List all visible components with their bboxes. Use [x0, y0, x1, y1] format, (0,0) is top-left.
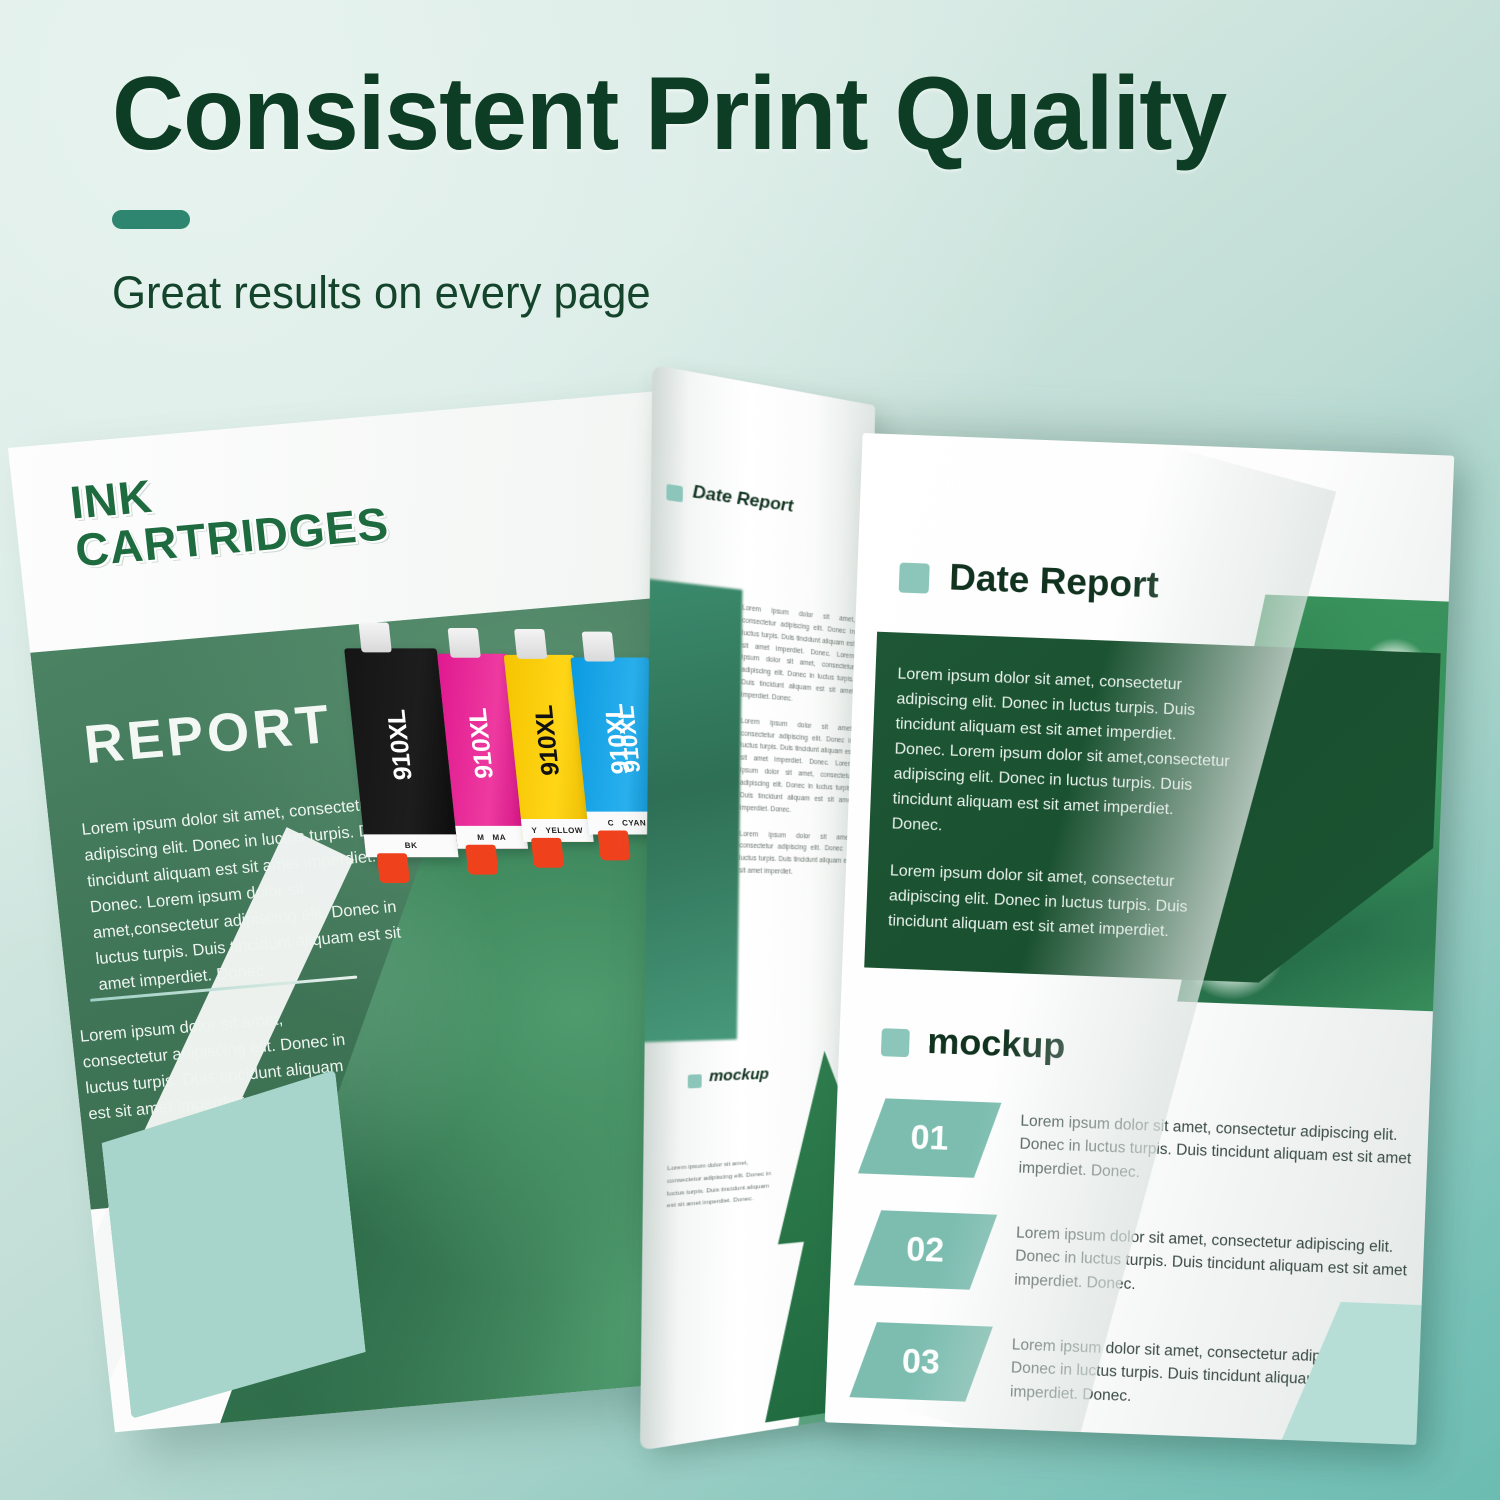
list-item-text: Lorem ipsum dolor sit amet, consectetur …: [1018, 1110, 1420, 1195]
black-cartridge-model: 910XL: [382, 709, 419, 780]
curl-page-body-2: Lorem ipsum dolor sit amet, consectetur …: [740, 715, 854, 819]
page-subtitle: Great results on every page: [112, 267, 1402, 319]
main-page-title: Date Report: [948, 556, 1159, 606]
curl-page-body: Lorem ipsum dolor sit amet, consectetur …: [739, 602, 855, 893]
curl-page-photo: [640, 579, 742, 1043]
right-brochure-main-page: Date Report Lorem ipsum dolor sit amet, …: [825, 433, 1455, 1445]
curl-page-body-1: Lorem ipsum dolor sit amet, consectetur …: [741, 602, 855, 710]
main-page-mockup-title: mockup: [927, 1020, 1067, 1067]
yellow-cartridge-code-long: YELLOW: [545, 826, 583, 835]
yellow-cartridge-model: 910XL: [530, 705, 567, 776]
main-page-title-square-icon: [899, 563, 930, 594]
cartridge-tab-icon: [598, 831, 631, 861]
cartridge-clip-icon: [358, 622, 391, 652]
magenta-cartridge-model: 910XL: [464, 708, 501, 779]
ink-cartridge-group: 910XL BK 910XL M MA 910XL Y YELLOW: [337, 544, 688, 886]
curl-page-mockup-body: Lorem ipsum dolor sit amet, consectetur …: [667, 1155, 779, 1213]
list-item-number-badge: 01: [858, 1098, 1002, 1177]
header: Consistent Print Quality Great results o…: [112, 62, 1442, 319]
cartridge-clip-icon: [514, 629, 547, 659]
list-item-number-badge: 03: [849, 1322, 993, 1401]
list-item-number: 03: [901, 1342, 940, 1382]
cartridge-clip-icon: [582, 632, 615, 662]
list-item-text: Lorem ipsum dolor sit amet, consectetur …: [1014, 1221, 1416, 1306]
curl-page-title-square-icon: [666, 484, 683, 502]
right-brochure: Date Report Lorem ipsum dolor sit amet, …: [616, 389, 1455, 1459]
curl-page-mockup-square-icon: [688, 1074, 702, 1088]
accent-bar: [112, 210, 190, 229]
main-page-dark-body-1: Lorem ipsum dolor sit amet, consectetur …: [891, 663, 1233, 850]
yellow-cartridge-code: Y: [531, 826, 538, 835]
cartridge-tab-icon: [466, 845, 499, 875]
main-page-mockup-square-icon: [881, 1028, 910, 1057]
main-page-dark-body: Lorem ipsum dolor sit amet, consectetur …: [887, 663, 1234, 969]
curl-page-title: Date Report: [692, 481, 793, 517]
list-item-number: 02: [906, 1230, 945, 1270]
cartridge-tab-icon: [377, 853, 410, 883]
list-item-number: 01: [910, 1118, 949, 1158]
list-item-number-badge: 02: [854, 1210, 998, 1289]
main-page-dark-body-2: Lorem ipsum dolor sit amet, consectetur …: [888, 859, 1227, 947]
list-item: 01 Lorem ipsum dolor sit amet, consectet…: [870, 1098, 1429, 1211]
promo-image: Consistent Print Quality Great results o…: [0, 0, 1500, 1500]
black-cartridge-code: BK: [404, 841, 418, 850]
cyan-cartridge-code: C: [607, 819, 614, 828]
cartridge-tab-icon: [531, 838, 564, 868]
curl-page-mockup-title: mockup: [709, 1065, 769, 1085]
magenta-cartridge-code-long: MA: [492, 833, 506, 842]
page-title: Consistent Print Quality: [112, 62, 1389, 166]
cartridge-clip-icon: [447, 628, 480, 658]
magenta-cartridge-code: M: [477, 833, 485, 842]
curl-page-body-3: Lorem ipsum dolor sit amet, consectetur …: [739, 828, 852, 880]
